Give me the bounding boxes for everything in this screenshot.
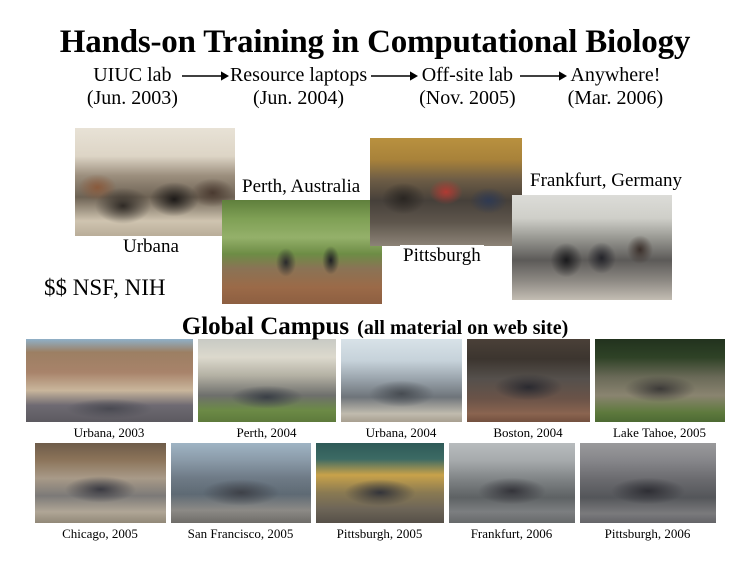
gallery-item[interactable]: Boston, 2004 [464,339,592,441]
gallery-thumbnail-pittsburgh-2005[interactable] [316,443,444,523]
timeline-step-date: (Jun. 2003) [87,87,178,110]
gallery-item[interactable]: Pittsburgh, 2005 [313,443,446,542]
timeline-step-label: Resource laptops [230,64,367,87]
gallery-caption: San Francisco, 2005 [168,526,313,542]
pittsburgh-photo-label: Pittsburgh [400,245,484,267]
funding-text: $$ NSF, NIH [44,275,165,301]
arrow-right-icon-2 [367,64,419,87]
gallery-caption: Frankfurt, 2006 [446,526,577,542]
timeline-step-off-site-lab: Off-site lab (Nov. 2005) [419,64,515,110]
timeline-step-anywhere: Anywhere! (Mar. 2006) [568,64,664,110]
gallery-thumbnail-chicago-2005[interactable] [35,443,166,523]
gallery-item[interactable]: Frankfurt, 2006 [446,443,577,542]
gallery-thumbnail-urbana-2004[interactable] [341,339,462,422]
timeline-step-label: UIUC lab [87,64,178,87]
arrow-right-icon-3 [516,64,568,87]
perth-campus-photo [222,200,382,304]
timeline-flow: UIUC lab (Jun. 2003) Resource laptops (J… [0,64,750,110]
gallery-caption: Pittsburgh, 2005 [313,526,446,542]
gallery-thumbnail-lake-tahoe-2005[interactable] [595,339,725,422]
gallery-row-1: Urbana, 2003 Perth, 2004 Urbana, 2004 Bo… [0,339,750,441]
arrow-right-icon-1 [178,64,230,87]
timeline-step-resource-laptops: Resource laptops (Jun. 2004) [230,64,367,110]
gallery-caption: Urbana, 2003 [23,425,195,441]
urbana-photo-label: Urbana [120,236,182,258]
gallery-thumbnail-frankfurt-2006[interactable] [449,443,575,523]
gallery-thumbnail-san-francisco-2005[interactable] [171,443,311,523]
gallery-caption: Boston, 2004 [464,425,592,441]
gallery-item[interactable]: San Francisco, 2005 [168,443,313,542]
gallery-thumbnail-pittsburgh-2006[interactable] [580,443,716,523]
gallery-caption: Perth, 2004 [195,425,338,441]
gallery-item[interactable]: Chicago, 2005 [32,443,168,542]
gallery-row-2: Chicago, 2005 San Francisco, 2005 Pittsb… [0,443,750,542]
frankfurt-classroom-photo [512,195,672,300]
timeline-step-date: (Mar. 2006) [568,87,664,110]
page-title: Hands-on Training in Computational Biolo… [0,24,750,61]
timeline-step-label: Anywhere! [568,64,664,87]
presentation-slide: Hands-on Training in Computational Biolo… [0,0,750,579]
gallery-item[interactable]: Perth, 2004 [195,339,338,441]
global-campus-title: Global Campus [182,313,349,340]
gallery-item[interactable]: Lake Tahoe, 2005 [592,339,727,441]
global-campus-heading: Global Campus (all material on web site) [0,313,750,341]
gallery-caption: Pittsburgh, 2006 [577,526,718,542]
urbana-classroom-photo [75,128,235,236]
global-campus-subtitle: (all material on web site) [357,317,568,339]
timeline-step-label: Off-site lab [419,64,515,87]
gallery-thumbnail-urbana-2003[interactable] [26,339,193,422]
gallery-caption: Chicago, 2005 [32,526,168,542]
gallery-item[interactable]: Urbana, 2004 [338,339,464,441]
timeline-step-uiuc-lab: UIUC lab (Jun. 2003) [87,64,178,110]
gallery-item[interactable]: Pittsburgh, 2006 [577,443,718,542]
timeline-step-date: (Jun. 2004) [230,87,367,110]
gallery-caption: Urbana, 2004 [338,425,464,441]
gallery-thumbnail-boston-2004[interactable] [467,339,590,422]
perth-photo-label: Perth, Australia [239,176,363,198]
timeline-step-date: (Nov. 2005) [419,87,515,110]
frankfurt-photo-label: Frankfurt, Germany [527,170,685,192]
gallery-thumbnail-perth-2004[interactable] [198,339,336,422]
gallery-item[interactable]: Urbana, 2003 [23,339,195,441]
pittsburgh-classroom-photo [370,138,522,246]
gallery-caption: Lake Tahoe, 2005 [592,425,727,441]
